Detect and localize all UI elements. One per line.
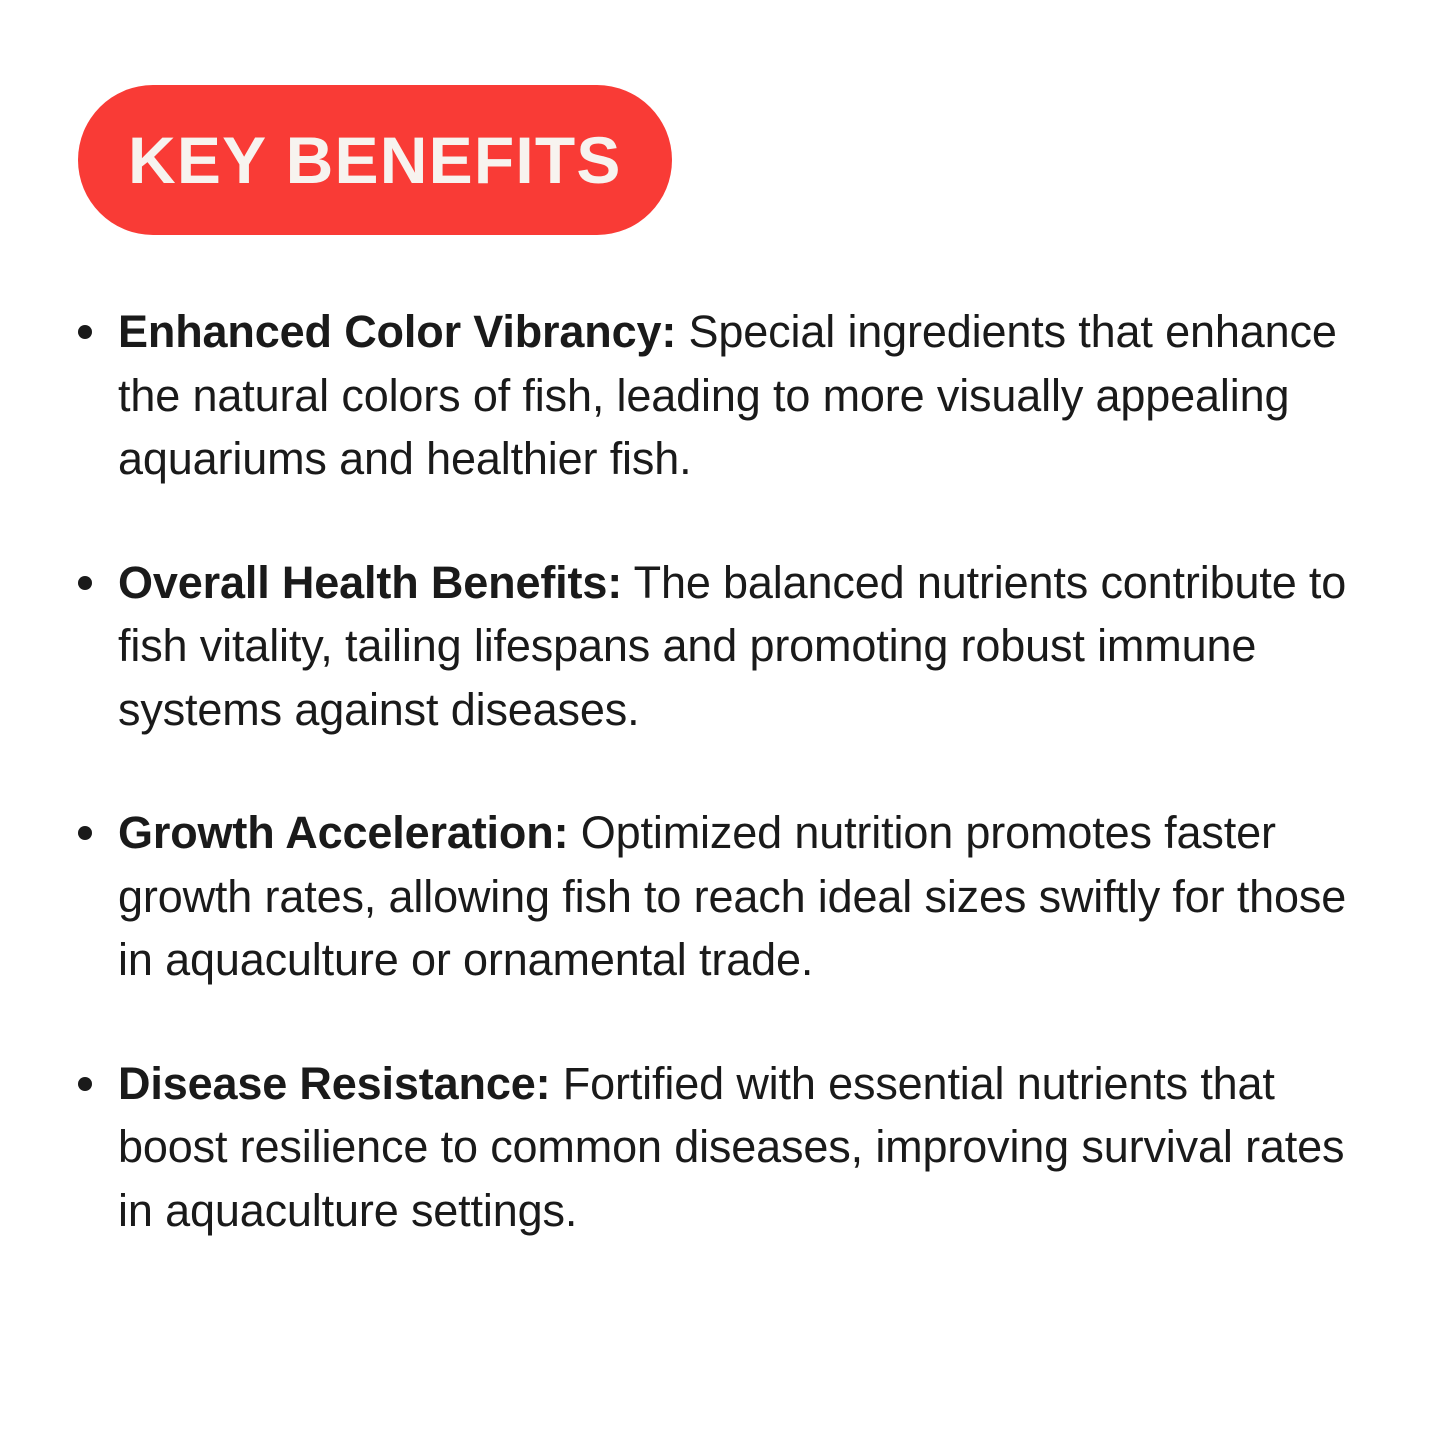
bullet-point-icon — [78, 576, 92, 590]
list-item: Overall Health Benefits: The balanced nu… — [68, 551, 1378, 742]
key-benefits-badge: KEY BENEFITS — [78, 85, 672, 235]
benefits-list: Enhanced Color Vibrancy: Special ingredi… — [68, 300, 1378, 1242]
list-item: Growth Acceleration: Optimized nutrition… — [68, 801, 1378, 992]
benefit-label: Growth Acceleration: — [118, 807, 568, 858]
list-item: Disease Resistance: Fortified with essen… — [68, 1052, 1378, 1243]
list-item: Enhanced Color Vibrancy: Special ingredi… — [68, 300, 1378, 491]
benefit-label: Overall Health Benefits: — [118, 557, 622, 608]
badge-container: KEY BENEFITS — [78, 85, 672, 235]
key-benefits-page: KEY BENEFITS Enhanced Color Vibrancy: Sp… — [0, 0, 1445, 1445]
benefit-label: Disease Resistance: — [118, 1058, 550, 1109]
bullet-point-icon — [78, 826, 92, 840]
benefit-label: Enhanced Color Vibrancy: — [118, 306, 676, 357]
bullet-point-icon — [78, 1077, 92, 1091]
bullet-point-icon — [78, 325, 92, 339]
